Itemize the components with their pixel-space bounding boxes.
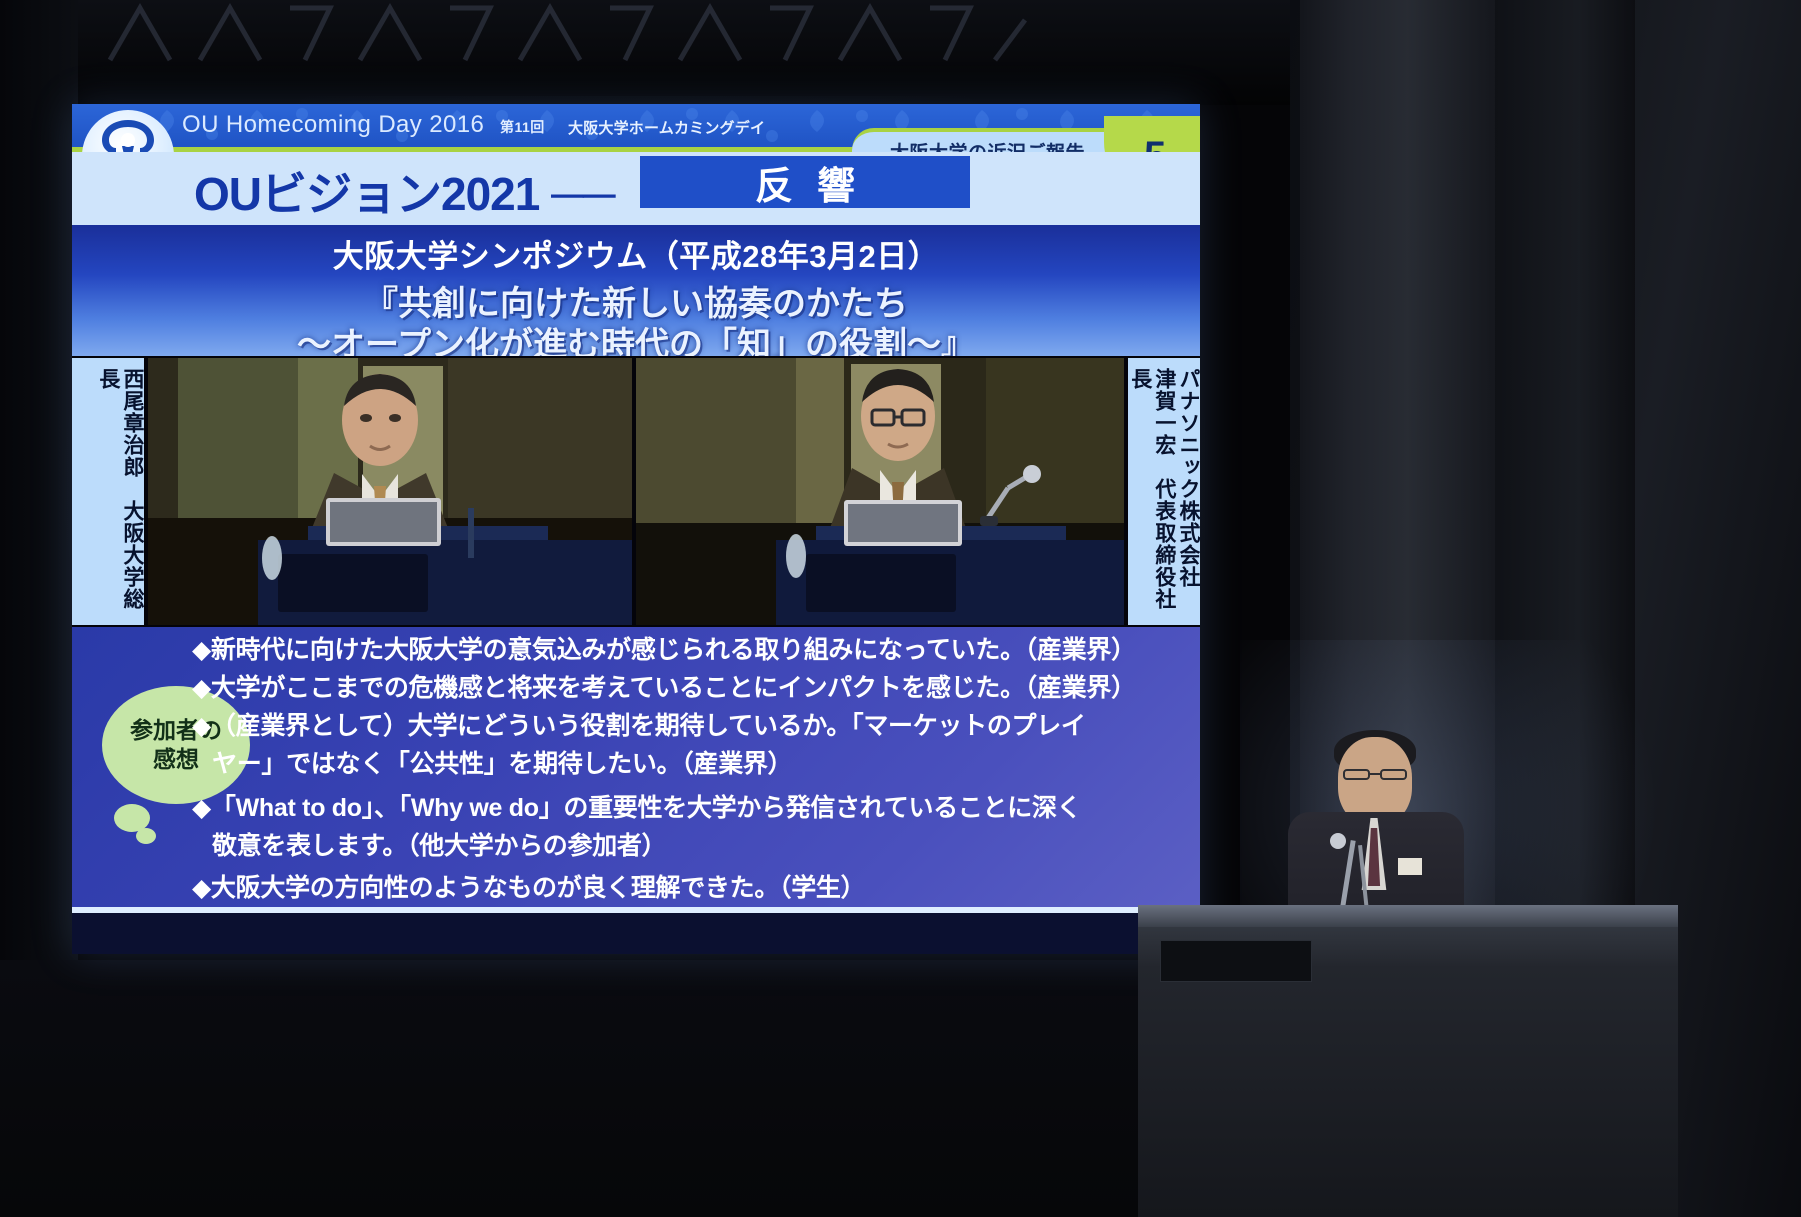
event-edition-label: 第11回	[500, 117, 545, 137]
microphone-head-icon	[1330, 833, 1346, 849]
podium-control-panel	[1160, 940, 1312, 982]
photo-right	[636, 358, 1124, 625]
feedback-item-5: ◆大阪大学の方向性のようなものが良く理解できた。（学生）	[192, 873, 1172, 904]
auditorium-scene: OU Homecoming Day 2016 第11回 大阪大学ホームカミングデ…	[0, 0, 1801, 1217]
podium-surface	[1138, 905, 1678, 927]
speaker-name-badge	[1398, 858, 1422, 875]
wall-pillar-secondary	[1495, 0, 1635, 1000]
photo-left	[148, 358, 632, 625]
event-title-jp: 大阪大学ホームカミングデイ	[568, 117, 765, 138]
projected-slide: OU Homecoming Day 2016 第11回 大阪大学ホームカミングデ…	[72, 104, 1200, 954]
thought-bubble-tiny	[136, 828, 156, 844]
photo-caption-left: 西尾章治郎 大阪大学総長	[72, 358, 144, 625]
photo-right-image	[636, 358, 1124, 625]
photo-caption-right: パナソニック株式会社 津賀一宏 代表取締役社長	[1128, 358, 1200, 625]
feedback-item-3-cont: ヤー」ではなく「公共性」を期待したい。（産業界）	[212, 749, 1192, 780]
symposium-name: 大阪大学シンポジウム（平成28年3月2日）	[72, 231, 1200, 276]
badge-line2: 感想	[153, 746, 199, 772]
participant-impressions-badge: 参加者の 感想	[102, 686, 250, 804]
feedback-item-4: ◆「What to do」、「Why we do」の重要性を大学から発信されてい…	[192, 793, 1172, 824]
ceiling-decor-icon	[90, 0, 1050, 70]
slide-footer	[72, 907, 1200, 954]
slide-footer-rule	[72, 907, 1200, 913]
feedback-item-2: ◆大学がここまでの危機感と将来を考えていることにインパクトを感じた。（産業界）	[192, 673, 1172, 704]
title-highlight-box: 反響	[640, 156, 970, 208]
feedback-item-1: ◆新時代に向けた大阪大学の意気込みが感じられる取り組みになっていた。（産業界）	[192, 635, 1172, 666]
speaker-glasses-icon	[1342, 768, 1408, 781]
event-title-en: OU Homecoming Day 2016	[182, 111, 484, 139]
floor-area	[0, 960, 1300, 1217]
title-highlight-text: 反響	[731, 155, 879, 210]
feedback-item-3: ◆（産業界として）大学にどういう役割を期待しているか。「マーケットのプレイ	[192, 711, 1172, 742]
feedback-item-4-cont: 敬意を表します。（他大学からの参加者）	[212, 831, 1192, 862]
photo-left-image	[148, 358, 632, 625]
slide-title: OUビジョン2021 ──	[194, 158, 614, 224]
